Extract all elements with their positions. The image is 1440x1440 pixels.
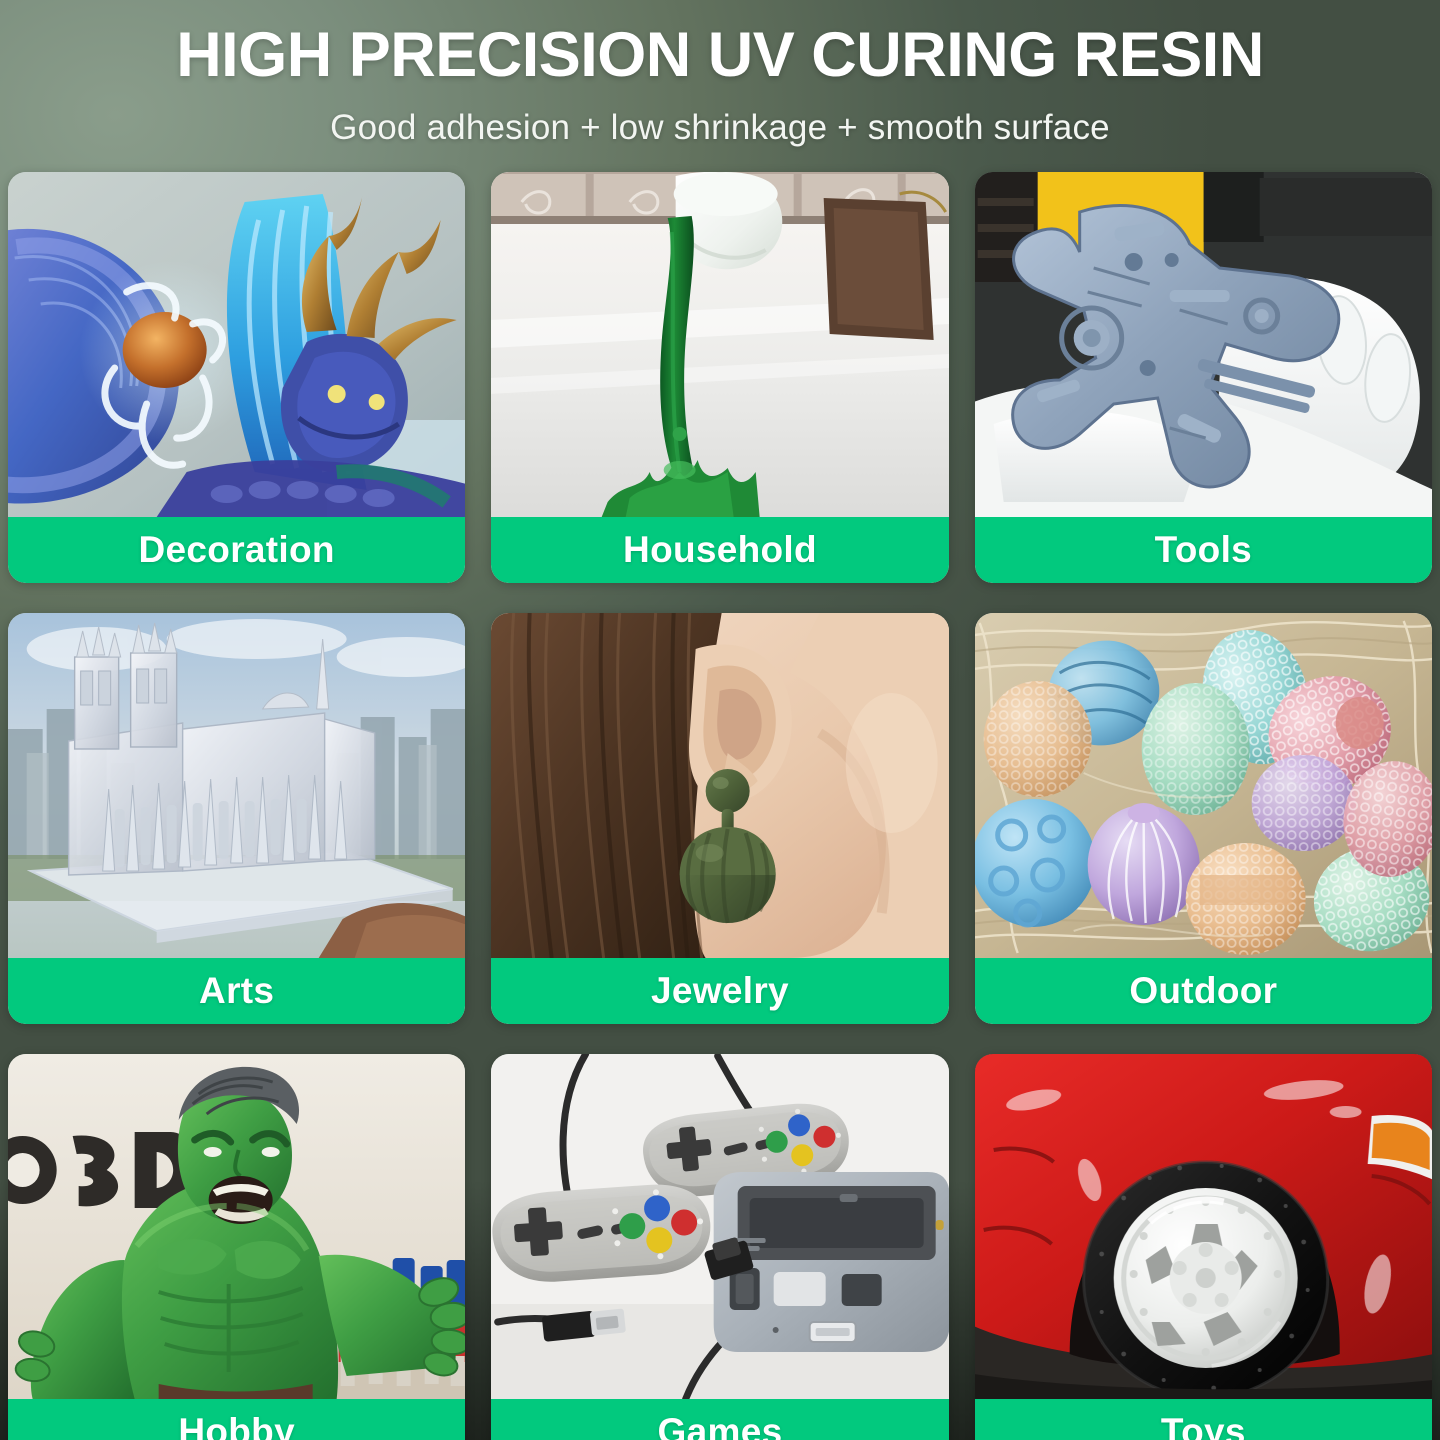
category-card-games[interactable]: Games bbox=[491, 1054, 948, 1440]
photo-green-hero-figure bbox=[8, 1054, 465, 1399]
category-card-tools[interactable]: Tools bbox=[975, 172, 1432, 583]
photo-green-earring bbox=[491, 613, 948, 958]
photo-retro-console-controllers bbox=[491, 1054, 948, 1399]
category-card-toys[interactable]: Toys bbox=[975, 1054, 1432, 1440]
header: HIGH PRECISION UV CURING RESIN Good adhe… bbox=[0, 0, 1440, 148]
card-label-jewelry: Jewelry bbox=[491, 958, 948, 1024]
card-label-arts: Arts bbox=[8, 958, 465, 1024]
card-label-household: Household bbox=[491, 517, 948, 583]
category-card-arts[interactable]: Arts bbox=[8, 613, 465, 1024]
photo-blue-dragon-figurine bbox=[8, 172, 465, 517]
category-card-jewelry[interactable]: Jewelry bbox=[491, 613, 948, 1024]
card-label-toys: Toys bbox=[975, 1399, 1432, 1440]
card-label-decoration: Decoration bbox=[8, 517, 465, 583]
photo-pouring-cup-sculpture bbox=[491, 172, 948, 517]
photo-red-model-car-wheel bbox=[975, 1054, 1432, 1399]
page-subtitle: Good adhesion + low shrinkage + smooth s… bbox=[0, 108, 1440, 148]
card-label-hobby: Hobby bbox=[8, 1399, 465, 1440]
card-label-tools: Tools bbox=[975, 517, 1432, 583]
category-card-hobby[interactable]: Hobby bbox=[8, 1054, 465, 1440]
category-card-decoration[interactable]: Decoration bbox=[8, 172, 465, 583]
category-grid: Decoration bbox=[0, 172, 1440, 1440]
photo-clear-cathedral-model bbox=[8, 613, 465, 958]
card-label-games: Games bbox=[491, 1399, 948, 1440]
card-label-outdoor: Outdoor bbox=[975, 958, 1432, 1024]
category-card-outdoor[interactable]: Outdoor bbox=[975, 613, 1432, 1024]
infographic-page: HIGH PRECISION UV CURING RESIN Good adhe… bbox=[0, 0, 1440, 1440]
category-card-household[interactable]: Household bbox=[491, 172, 948, 583]
photo-gray-resin-mech-part bbox=[975, 172, 1432, 517]
photo-pastel-resin-eggs bbox=[975, 613, 1432, 958]
page-title: HIGH PRECISION UV CURING RESIN bbox=[0, 22, 1440, 88]
